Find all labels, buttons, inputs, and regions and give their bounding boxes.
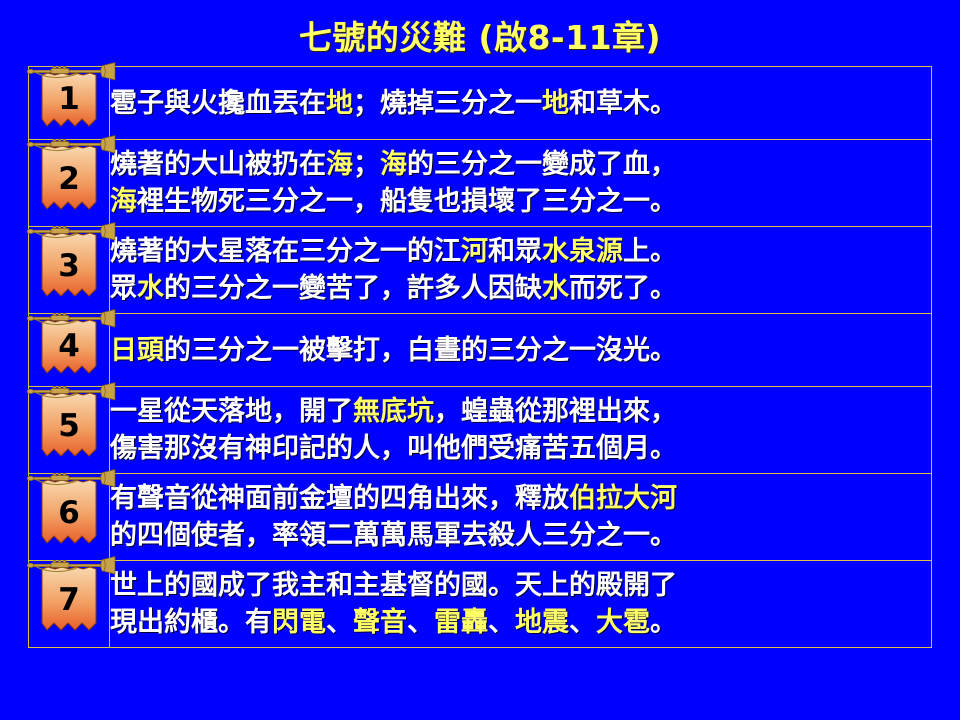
verse-text: 雹子與火攙血丟在地；燒掉三分之一地和草木。 — [110, 85, 931, 122]
trumpet-number-label: 5 — [29, 387, 109, 464]
verse-segment: 上。 — [623, 236, 677, 267]
trumpet-number-cell-5: 5 — [29, 387, 110, 474]
verse-segment: 傷害那沒有神印記的人，叫他們受痛苦五個月。 — [110, 433, 677, 464]
highlighted-term: 雷轟 — [434, 607, 488, 638]
seven-trumpets-table: 1雹子與火攙血丟在地；燒掉三分之一地和草木。 2燒著的大山被扔在海；海的三分之一… — [28, 66, 932, 648]
verse-segment: ，蝗蟲從那裡出來， — [434, 396, 677, 427]
highlighted-term: 閃電 — [272, 607, 326, 638]
trumpet-number-label: 4 — [29, 314, 109, 377]
trumpet-banner-emblem: 4 — [29, 314, 109, 386]
verse-segment: 而死了。 — [569, 273, 677, 304]
table-row: 5一星從天落地，開了無底坑，蝗蟲從那裡出來，傷害那沒有神印記的人，叫他們受痛苦五… — [29, 387, 932, 474]
verse-segment: 、 — [326, 607, 353, 638]
highlighted-term: 地 — [326, 88, 353, 119]
verse-segment: 。 — [650, 607, 677, 638]
highlighted-term: 水 — [542, 273, 569, 304]
verse-text: 世上的國成了我主和主基督的國。天上的殿開了現出約櫃。有閃電、聲音、雷轟、地震、大… — [110, 567, 931, 641]
highlighted-term: 地震 — [515, 607, 569, 638]
highlighted-term: 海 — [326, 149, 353, 180]
verse-cell-1: 雹子與火攙血丟在地；燒掉三分之一地和草木。 — [110, 67, 932, 140]
verse-text: 日頭的三分之一被擊打，白晝的三分之一沒光。 — [110, 332, 931, 369]
verse-segment: 有聲音從神面前金壇的四角出來，釋放 — [110, 483, 569, 514]
trumpet-banner-emblem: 2 — [29, 140, 109, 226]
verse-line: 一星從天落地，開了無底坑，蝗蟲從那裡出來， — [110, 393, 931, 430]
verse-segment: 、 — [488, 607, 515, 638]
table-row: 7世上的國成了我主和主基督的國。天上的殿開了現出約櫃。有閃電、聲音、雷轟、地震、… — [29, 561, 932, 648]
table-row: 6有聲音從神面前金壇的四角出來，釋放伯拉大河的四個使者，率領二萬萬馬軍去殺人三分… — [29, 474, 932, 561]
table-body: 1雹子與火攙血丟在地；燒掉三分之一地和草木。 2燒著的大山被扔在海；海的三分之一… — [29, 67, 932, 648]
verse-cell-5: 一星從天落地，開了無底坑，蝗蟲從那裡出來，傷害那沒有神印記的人，叫他們受痛苦五個… — [110, 387, 932, 474]
highlighted-term: 聲音 — [353, 607, 407, 638]
verse-segment: 一星從天落地，開了 — [110, 396, 353, 427]
verse-text: 燒著的大山被扔在海；海的三分之一變成了血，海裡生物死三分之一，船隻也損壞了三分之… — [110, 146, 931, 220]
verse-line: 燒著的大山被扔在海；海的三分之一變成了血， — [110, 146, 931, 183]
verse-segment: ； — [353, 149, 380, 180]
trumpet-number-cell-6: 6 — [29, 474, 110, 561]
verse-segment: 的三分之一變成了血， — [407, 149, 677, 180]
highlighted-term: 河 — [461, 236, 488, 267]
verse-line: 海裡生物死三分之一，船隻也損壞了三分之一。 — [110, 183, 931, 220]
verse-line: 的四個使者，率領二萬萬馬軍去殺人三分之一。 — [110, 517, 931, 554]
trumpet-number-cell-1: 1 — [29, 67, 110, 140]
highlighted-term: 大雹 — [596, 607, 650, 638]
verse-segment: 、 — [407, 607, 434, 638]
trumpet-number-cell-4: 4 — [29, 314, 110, 387]
verse-line: 現出約櫃。有閃電、聲音、雷轟、地震、大雹。 — [110, 604, 931, 641]
highlighted-term: 水 — [137, 273, 164, 304]
table-row: 2燒著的大山被扔在海；海的三分之一變成了血，海裡生物死三分之一，船隻也損壞了三分… — [29, 140, 932, 227]
highlighted-term: 伯拉大河 — [569, 483, 677, 514]
verse-line: 世上的國成了我主和主基督的國。天上的殿開了 — [110, 567, 931, 604]
verse-segment: 和草木。 — [569, 88, 677, 119]
verse-segment: 世上的國成了我主和主基督的國。天上的殿開了 — [110, 570, 677, 601]
verse-line: 雹子與火攙血丟在地；燒掉三分之一地和草木。 — [110, 85, 931, 122]
table-row: 1雹子與火攙血丟在地；燒掉三分之一地和草木。 — [29, 67, 932, 140]
trumpet-number-cell-7: 7 — [29, 561, 110, 648]
verse-segment: 的三分之一被擊打，白晝的三分之一沒光。 — [164, 335, 677, 366]
verse-text: 燒著的大星落在三分之一的江河和眾水泉源上。眾水的三分之一變苦了，許多人因缺水而死… — [110, 233, 931, 307]
verse-line: 日頭的三分之一被擊打，白晝的三分之一沒光。 — [110, 332, 931, 369]
trumpet-number-cell-2: 2 — [29, 140, 110, 227]
verse-segment: 現出約櫃。有 — [110, 607, 272, 638]
verse-cell-2: 燒著的大山被扔在海；海的三分之一變成了血，海裡生物死三分之一，船隻也損壞了三分之… — [110, 140, 932, 227]
highlighted-term: 日頭 — [110, 335, 164, 366]
verse-line: 傷害那沒有神印記的人，叫他們受痛苦五個月。 — [110, 430, 931, 467]
highlighted-term: 水泉源 — [542, 236, 623, 267]
verse-cell-6: 有聲音從神面前金壇的四角出來，釋放伯拉大河的四個使者，率領二萬萬馬軍去殺人三分之… — [110, 474, 932, 561]
trumpet-number-label: 1 — [29, 67, 109, 130]
slide-canvas: 七號的災難 (啟8-11章) 1雹子與火攙血丟在地；燒掉三分之一地和草木。 — [0, 0, 960, 720]
highlighted-term: 地 — [542, 88, 569, 119]
verse-segment: 裡生物死三分之一，船隻也損壞了三分之一。 — [137, 186, 677, 217]
verse-text: 一星從天落地，開了無底坑，蝗蟲從那裡出來，傷害那沒有神印記的人，叫他們受痛苦五個… — [110, 393, 931, 467]
verse-segment: 和眾 — [488, 236, 542, 267]
verse-line: 燒著的大星落在三分之一的江河和眾水泉源上。 — [110, 233, 931, 270]
verse-segment: ；燒掉三分之一 — [353, 88, 542, 119]
highlighted-term: 海 — [380, 149, 407, 180]
table-row: 3燒著的大星落在三分之一的江河和眾水泉源上。眾水的三分之一變苦了，許多人因缺水而… — [29, 227, 932, 314]
verse-segment: 的三分之一變苦了，許多人因缺 — [164, 273, 542, 304]
trumpet-banner-emblem: 1 — [29, 67, 109, 139]
trumpet-number-label: 2 — [29, 140, 109, 217]
verse-cell-3: 燒著的大星落在三分之一的江河和眾水泉源上。眾水的三分之一變苦了，許多人因缺水而死… — [110, 227, 932, 314]
verse-segment: 、 — [569, 607, 596, 638]
trumpet-banner-emblem: 3 — [29, 227, 109, 313]
verse-line: 眾水的三分之一變苦了，許多人因缺水而死了。 — [110, 270, 931, 307]
highlighted-term: 無底坑 — [353, 396, 434, 427]
verse-line: 有聲音從神面前金壇的四角出來，釋放伯拉大河 — [110, 480, 931, 517]
verse-segment: 的四個使者，率領二萬萬馬軍去殺人三分之一。 — [110, 520, 677, 551]
verse-segment: 燒著的大星落在三分之一的江 — [110, 236, 461, 267]
trumpet-banner-emblem: 7 — [29, 561, 109, 647]
verse-cell-7: 世上的國成了我主和主基督的國。天上的殿開了現出約櫃。有閃電、聲音、雷轟、地震、大… — [110, 561, 932, 648]
trumpet-number-label: 3 — [29, 227, 109, 304]
table-row: 4日頭的三分之一被擊打，白晝的三分之一沒光。 — [29, 314, 932, 387]
verse-text: 有聲音從神面前金壇的四角出來，釋放伯拉大河的四個使者，率領二萬萬馬軍去殺人三分之… — [110, 480, 931, 554]
verse-segment: 眾 — [110, 273, 137, 304]
page-title: 七號的災難 (啟8-11章) — [0, 18, 960, 58]
highlighted-term: 海 — [110, 186, 137, 217]
verse-segment: 燒著的大山被扔在 — [110, 149, 326, 180]
trumpet-banner-emblem: 5 — [29, 387, 109, 473]
verse-segment: 雹子與火攙血丟在 — [110, 88, 326, 119]
trumpet-number-cell-3: 3 — [29, 227, 110, 314]
trumpet-banner-emblem: 6 — [29, 474, 109, 560]
verse-cell-4: 日頭的三分之一被擊打，白晝的三分之一沒光。 — [110, 314, 932, 387]
trumpet-number-label: 7 — [29, 561, 109, 638]
trumpet-number-label: 6 — [29, 474, 109, 551]
